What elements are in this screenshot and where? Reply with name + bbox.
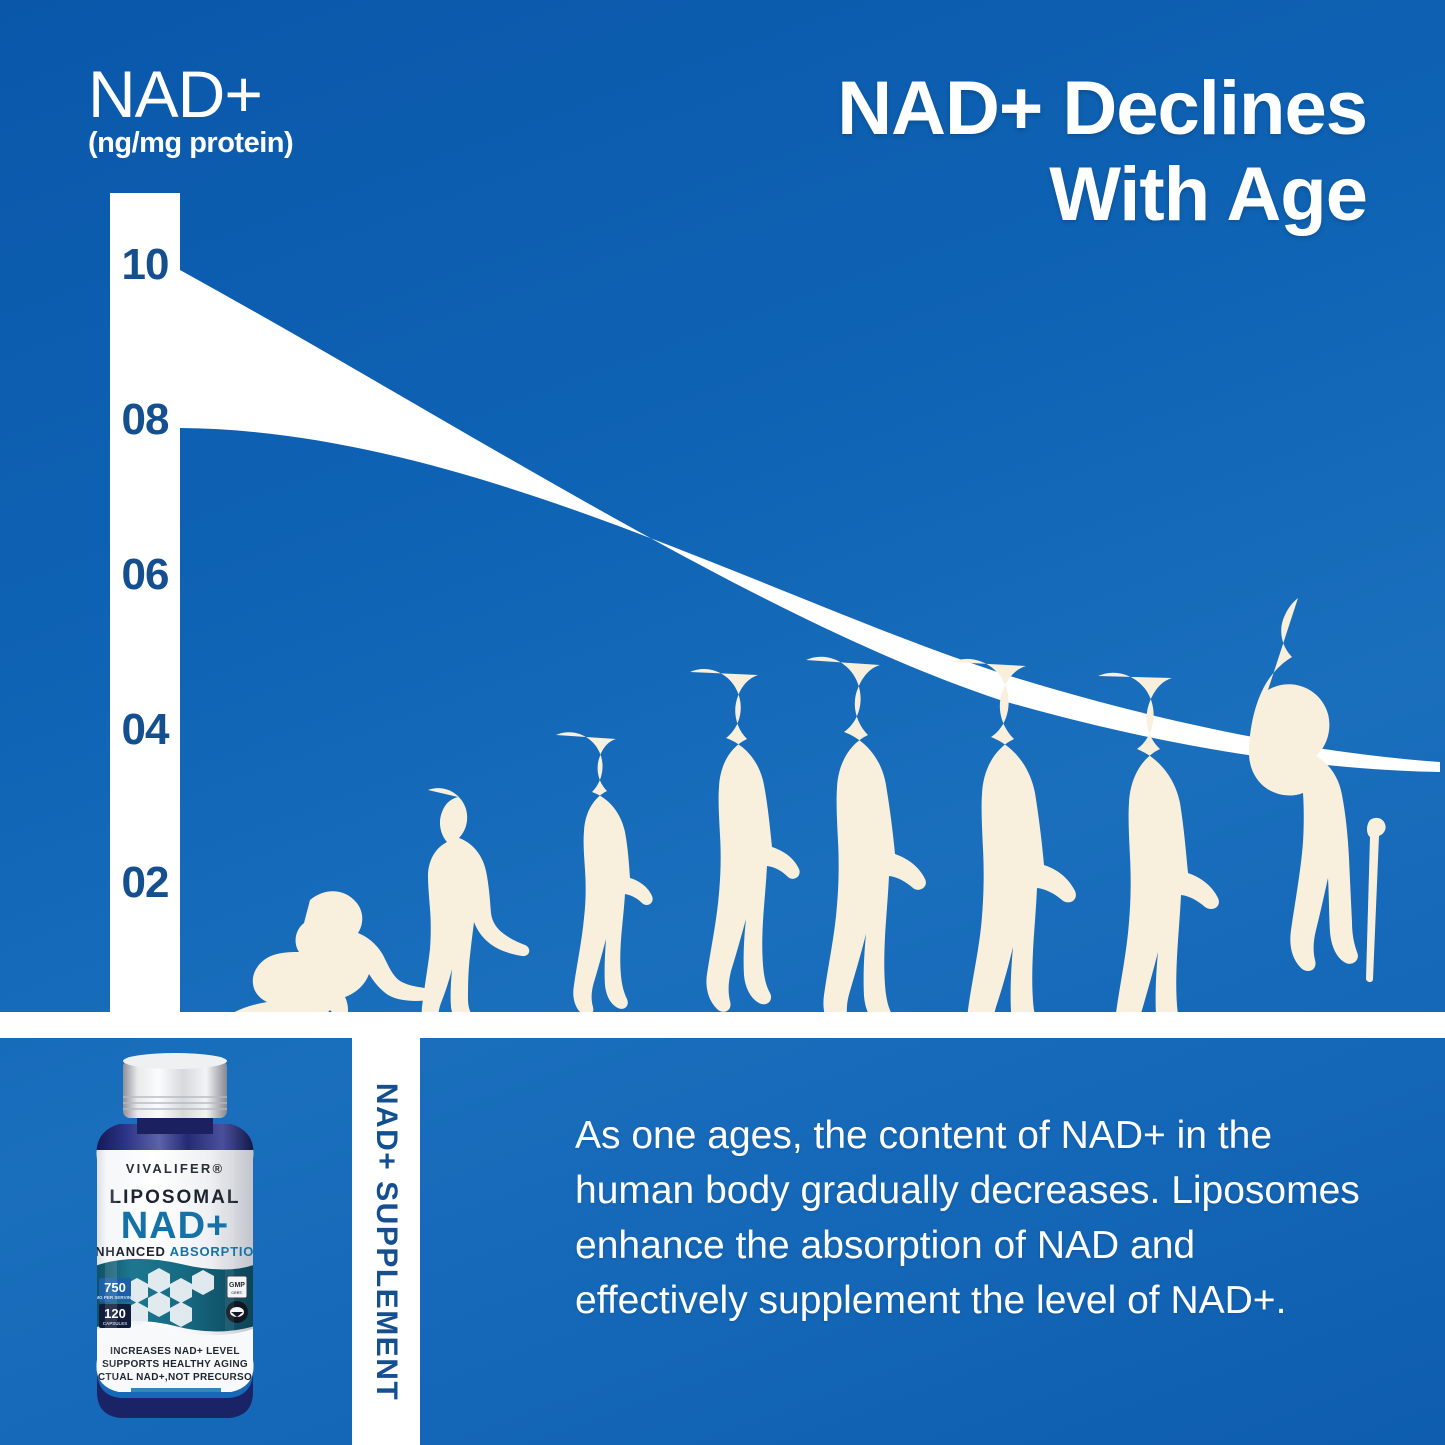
y-tick-08: 08 [112, 395, 178, 445]
silhouette-adult [806, 657, 926, 1012]
nad-supplement-label: NAD+ SUPPLEMENT [369, 1082, 403, 1400]
bottle-illustration: VIVALIFER® LIPOSOMAL NAD+ ENHANCED ABSOR… [75, 1040, 315, 1440]
silhouette-toddler [422, 788, 530, 1012]
bottle-footer: DIETARY SUPPLEMENT [126, 1390, 226, 1399]
bottle-cap [123, 1053, 227, 1118]
silhouette-elderly [1249, 598, 1386, 982]
bottle-brand: VIVALIFER® [126, 1161, 225, 1176]
y-axis-unit: (ng/mg protein) [88, 128, 293, 158]
silhouette-teen [690, 669, 800, 1012]
bottle-claim-1: INCREASES NAD+ LEVEL [110, 1346, 240, 1357]
product-bottle[interactable]: VIVALIFER® LIPOSOMAL NAD+ ENHANCED ABSOR… [75, 1040, 315, 1440]
infographic-root: 10 08 06 04 02 NAD+ (ng/mg protein) NAD+… [0, 0, 1445, 1445]
y-tick-06: 06 [112, 550, 178, 600]
chart-panel: 10 08 06 04 02 NAD+ (ng/mg protein) NAD+… [0, 0, 1445, 1012]
silhouette-infant [227, 891, 432, 1012]
y-axis-label: NAD+ [88, 62, 293, 126]
horizontal-divider [0, 1012, 1445, 1038]
y-tick-10: 10 [112, 240, 178, 290]
silhouette-senior [1098, 673, 1219, 1012]
silhouette-child [556, 732, 653, 1012]
page-title: NAD+ Declines With Age [667, 66, 1367, 238]
bottle-product: NAD+ [121, 1205, 230, 1247]
silhouette-middle-age [952, 659, 1076, 1012]
y-axis-title-group: NAD+ (ng/mg protein) [88, 62, 293, 158]
description-paragraph: As one ages, the content of NAD+ in the … [575, 1108, 1375, 1328]
y-tick-04: 04 [112, 705, 178, 755]
y-tick-02: 02 [112, 858, 178, 908]
vertical-label-strip: NAD+ SUPPLEMENT [352, 1038, 420, 1445]
